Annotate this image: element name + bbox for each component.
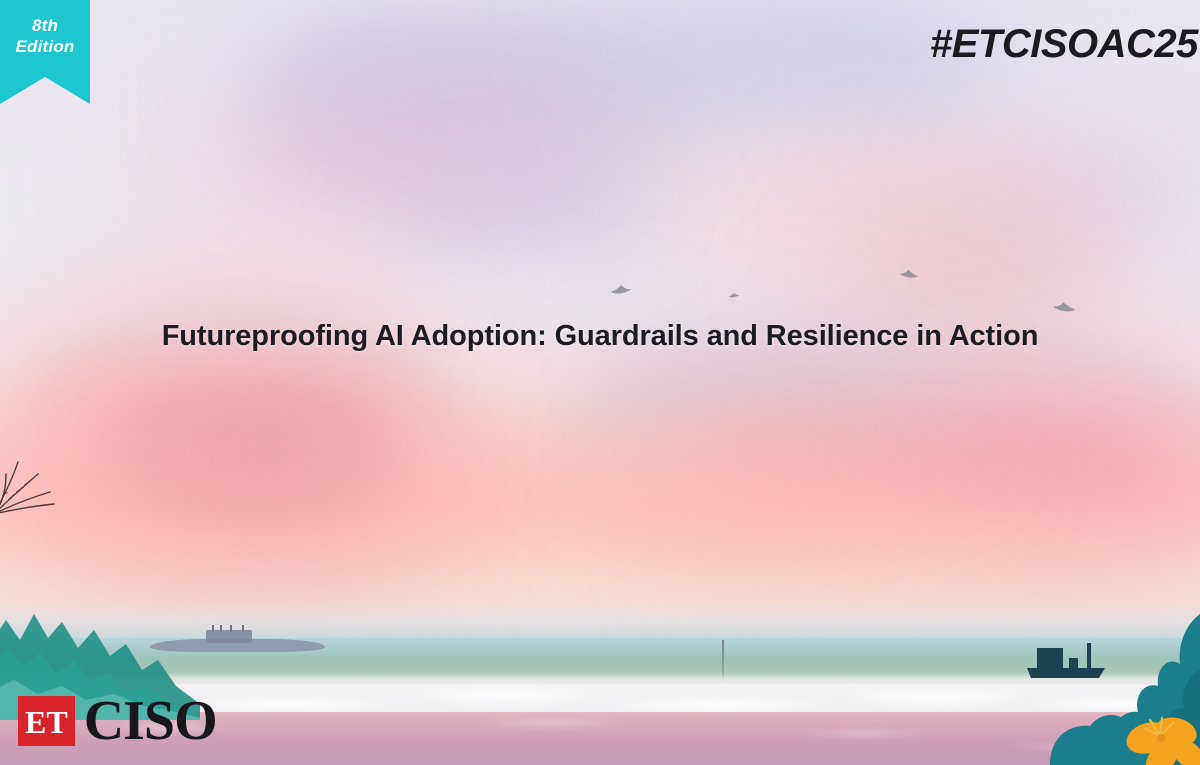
bird-icon-3	[728, 292, 742, 298]
palm-frond-decoration	[0, 452, 62, 516]
logo-et-mark: ET	[18, 696, 75, 746]
ribbon-line-1: 8th	[32, 16, 58, 37]
event-hashtag: #ETCISOAC25	[930, 22, 1198, 67]
logo-ciso-wordmark: CISO	[84, 693, 217, 749]
bird-icon-1	[895, 268, 919, 279]
etciso-logo[interactable]: ET CISO	[18, 693, 217, 749]
cloud-14	[380, 175, 680, 265]
bird-icon-2	[1048, 300, 1076, 313]
tropical-foliage-decoration	[1010, 612, 1200, 765]
bird-icon-0	[610, 283, 636, 295]
ribbon-line-2: Edition	[16, 37, 75, 58]
cloud-12	[0, 470, 420, 610]
session-title: Futureproofing AI Adoption: Guardrails a…	[0, 320, 1200, 353]
event-banner: 8th Edition #ETCISOAC25 Futureproofing A…	[0, 0, 1200, 765]
